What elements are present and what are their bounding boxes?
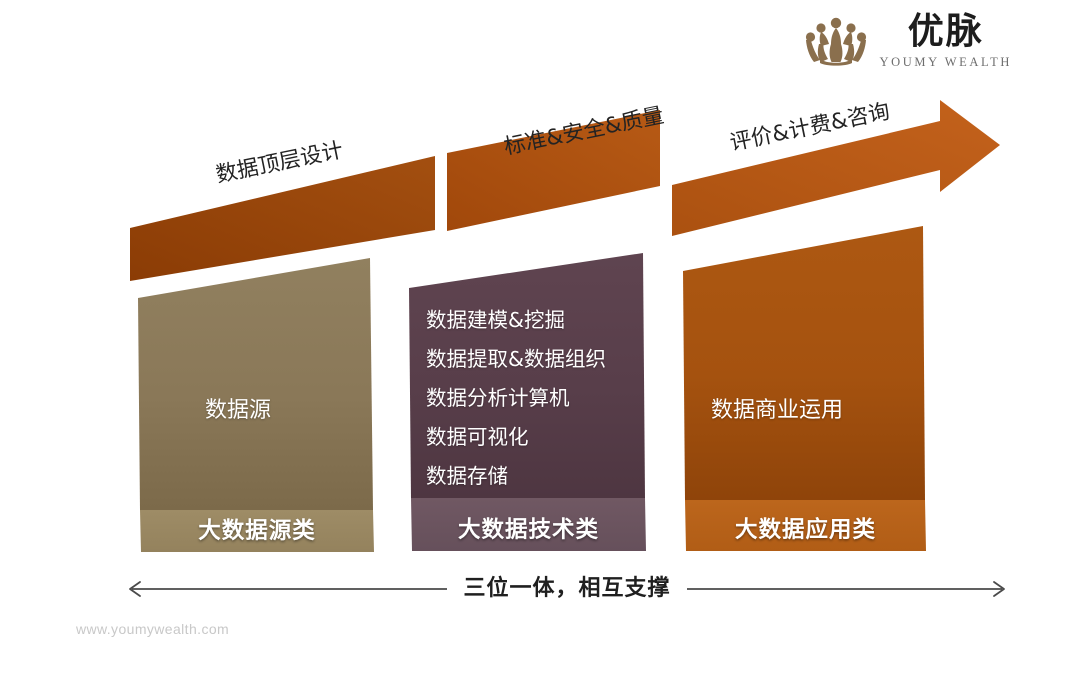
arrow-stage-label-0: 数据顶层设计 <box>213 133 346 189</box>
slide-canvas: 优脉 YOUMY WEALTH <box>0 0 1080 675</box>
brand-name-en: YOUMY WEALTH <box>880 56 1012 69</box>
arrow-stage-label-2: 评价&计费&咨询 <box>727 94 892 157</box>
brand-logo: 优脉 YOUMY WEALTH <box>802 14 1012 69</box>
bullet-item: 数据存储 <box>426 459 606 489</box>
brand-name-cn: 优脉 <box>908 14 984 50</box>
column-source-footer: 大数据源类 <box>140 513 374 545</box>
caption-label: 三位一体，相互支撑 <box>447 576 686 601</box>
caption-row: 三位一体，相互支撑 <box>124 572 1010 606</box>
bullet-item: 数据建模&挖掘 <box>426 303 606 333</box>
site-url: www.youmywealth.com <box>76 621 229 637</box>
column-source-title: 数据源 <box>205 392 271 424</box>
bullet-item: 数据提取&数据组织 <box>426 342 606 372</box>
crown-icon <box>802 15 870 67</box>
column-application-footer: 大数据应用类 <box>685 512 926 544</box>
bullet-item: 数据可视化 <box>426 420 606 450</box>
column-application-title: 数据商业运用 <box>711 392 843 424</box>
brand-text: 优脉 YOUMY WEALTH <box>880 14 1012 69</box>
arrow-stage-label-1: 标准&安全&质量 <box>501 98 666 161</box>
bullet-item: 数据分析计算机 <box>426 381 606 411</box>
column-technology-bullets: 数据建模&挖掘 数据提取&数据组织 数据分析计算机 数据可视化 数据存储 <box>426 303 606 489</box>
column-shape-application <box>683 226 926 551</box>
caption-text: 三位一体，相互支撑 <box>124 572 1010 606</box>
column-technology-footer: 大数据技术类 <box>411 512 646 544</box>
